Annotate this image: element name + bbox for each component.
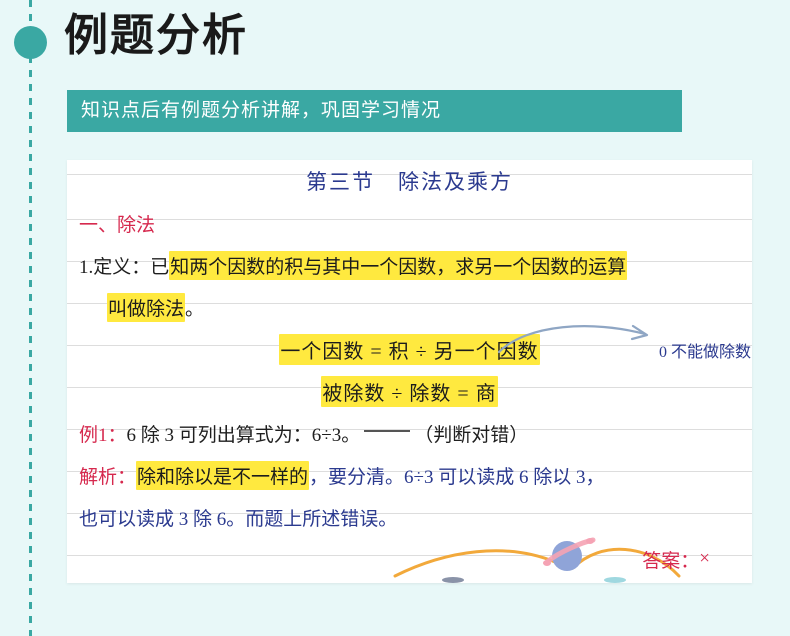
definition-label: 1.定义：	[79, 252, 150, 279]
analysis-line-1: 解析： 除和除以是不一样的 ，要分清。6÷3 可以读成 6 除以 3，	[79, 454, 740, 496]
section-banner: 知识点后有例题分析讲解，巩固学习情况	[67, 90, 682, 132]
dashed-rail	[29, 0, 32, 636]
example-text: 6 除 3 可列出算式为：6÷3。	[127, 420, 361, 447]
definition-highlight-1: 知两个因数的积与其中一个因数，求另一个因数的运算	[169, 251, 627, 280]
answer-label: 答案：	[642, 546, 699, 573]
example-instruction: （判断对错）	[414, 420, 528, 447]
answer-blank	[364, 430, 410, 432]
example-label: 例1：	[79, 420, 127, 447]
section-heading: 一、除法	[79, 202, 740, 244]
definition-line-2: 叫做除法 。	[79, 286, 740, 328]
worksheet-card: 第三节 除法及乘方 一、除法 1.定义： 已 知两个因数的积与其中一个因数，求另…	[67, 160, 752, 583]
example-line: 例1： 6 除 3 可列出算式为：6÷3。 （判断对错）	[79, 412, 740, 454]
definition-tail: 。	[185, 294, 204, 321]
analysis-label: 解析：	[79, 462, 136, 489]
formula-two: 被除数 ÷ 除数 = 商	[321, 376, 497, 407]
formula-one: 一个因数 = 积 ÷ 另一个因数	[279, 334, 539, 365]
definition-line-1: 1.定义： 已 知两个因数的积与其中一个因数，求另一个因数的运算	[79, 244, 740, 286]
page-title: 例题分析	[64, 8, 248, 64]
analysis-text-1: ，要分清。6÷3 可以读成 6 除以 3，	[309, 462, 604, 489]
answer-value: ×	[699, 548, 710, 570]
definition-highlight-2: 叫做除法	[107, 293, 185, 322]
definition-lead: 已	[150, 252, 169, 279]
note-text: 0 不能做除数	[659, 338, 751, 362]
analysis-highlight: 除和除以是不一样的	[136, 461, 309, 490]
worksheet-title: 第三节 除法及乘方	[79, 160, 740, 202]
worksheet-content: 第三节 除法及乘方 一、除法 1.定义： 已 知两个因数的积与其中一个因数，求另…	[67, 160, 752, 583]
analysis-text-2: 也可以读成 3 除 6。而题上所述错误。	[79, 504, 397, 531]
answer-line: 答案： ×	[79, 538, 740, 580]
section-heading-text: 一、除法	[79, 210, 155, 237]
formula-row-1: 一个因数 = 积 ÷ 另一个因数	[79, 328, 740, 370]
rail-dot-icon	[14, 26, 47, 59]
formula-row-2: 被除数 ÷ 除数 = 商	[79, 370, 740, 412]
